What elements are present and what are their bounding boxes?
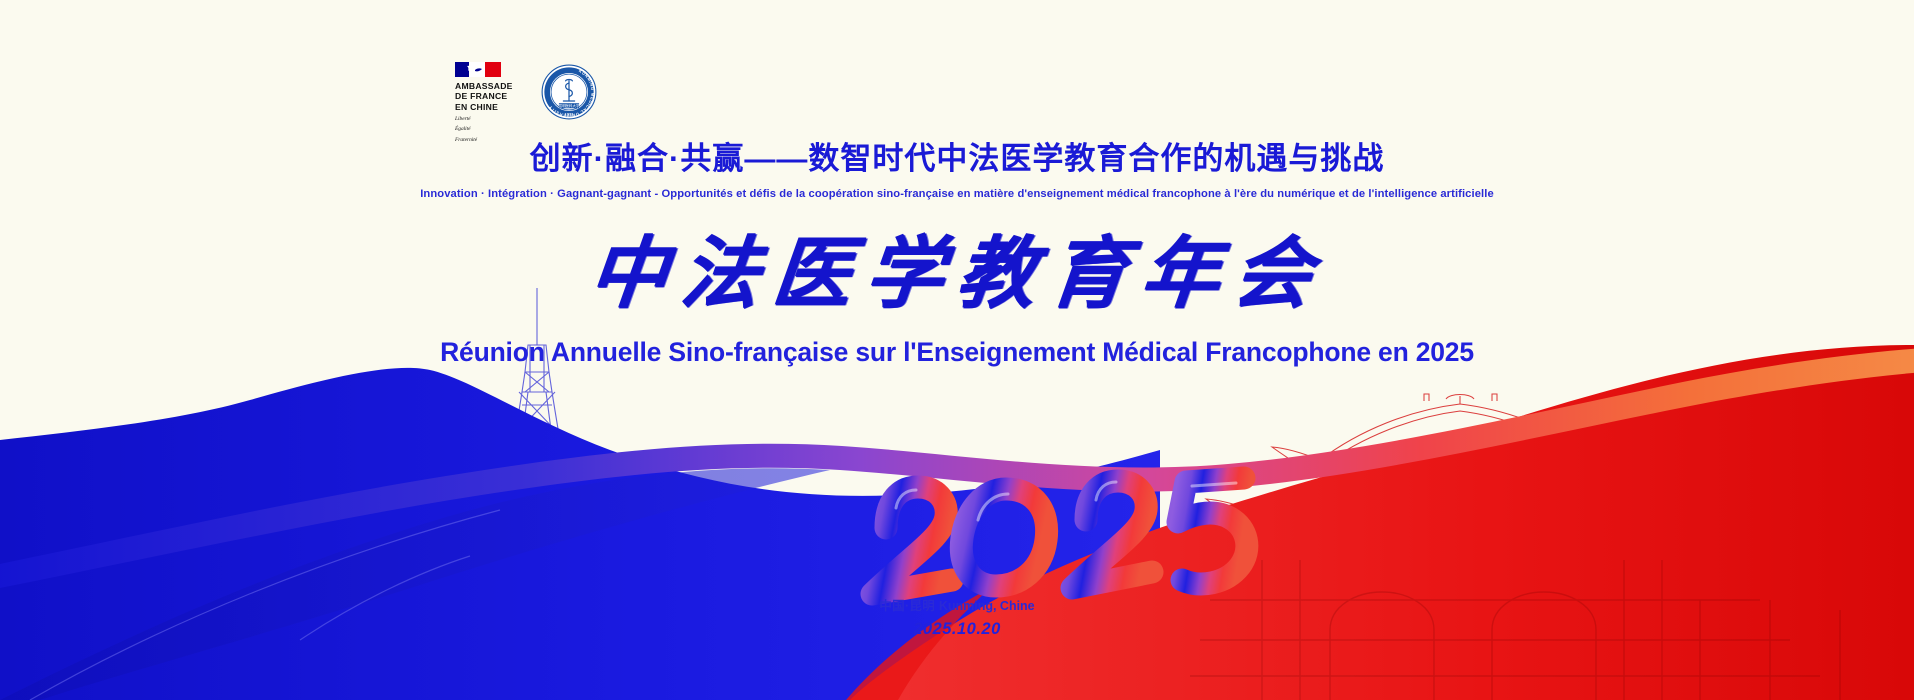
embassy-name-line3: EN CHINE	[455, 102, 498, 112]
french-flag-marianne-icon	[455, 62, 501, 77]
banner-artwork	[0, 0, 1914, 700]
conference-banner: AMBASSADE DE FRANCE EN CHINE Liberté Éga…	[0, 0, 1914, 700]
france-embassy-logo: AMBASSADE DE FRANCE EN CHINE Liberté Éga…	[455, 62, 513, 143]
svg-text:昆明医科大学: 昆明医科大学	[558, 103, 579, 108]
svg-text:1933: 1933	[564, 112, 574, 117]
logo-row: AMBASSADE DE FRANCE EN CHINE Liberté Éga…	[455, 62, 597, 143]
kunming-medical-university-seal-icon: KUNMING MEDICAL UNIVERSITY 昆明医科大学 1933	[541, 64, 597, 120]
embassy-motto-fraternite: Fraternité	[455, 137, 477, 143]
embassy-motto-liberte: Liberté	[455, 116, 471, 122]
embassy-name-line2: DE FRANCE	[455, 91, 507, 101]
embassy-motto-egalite: Égalité	[455, 126, 471, 132]
embassy-name-line1: AMBASSADE	[455, 81, 513, 91]
